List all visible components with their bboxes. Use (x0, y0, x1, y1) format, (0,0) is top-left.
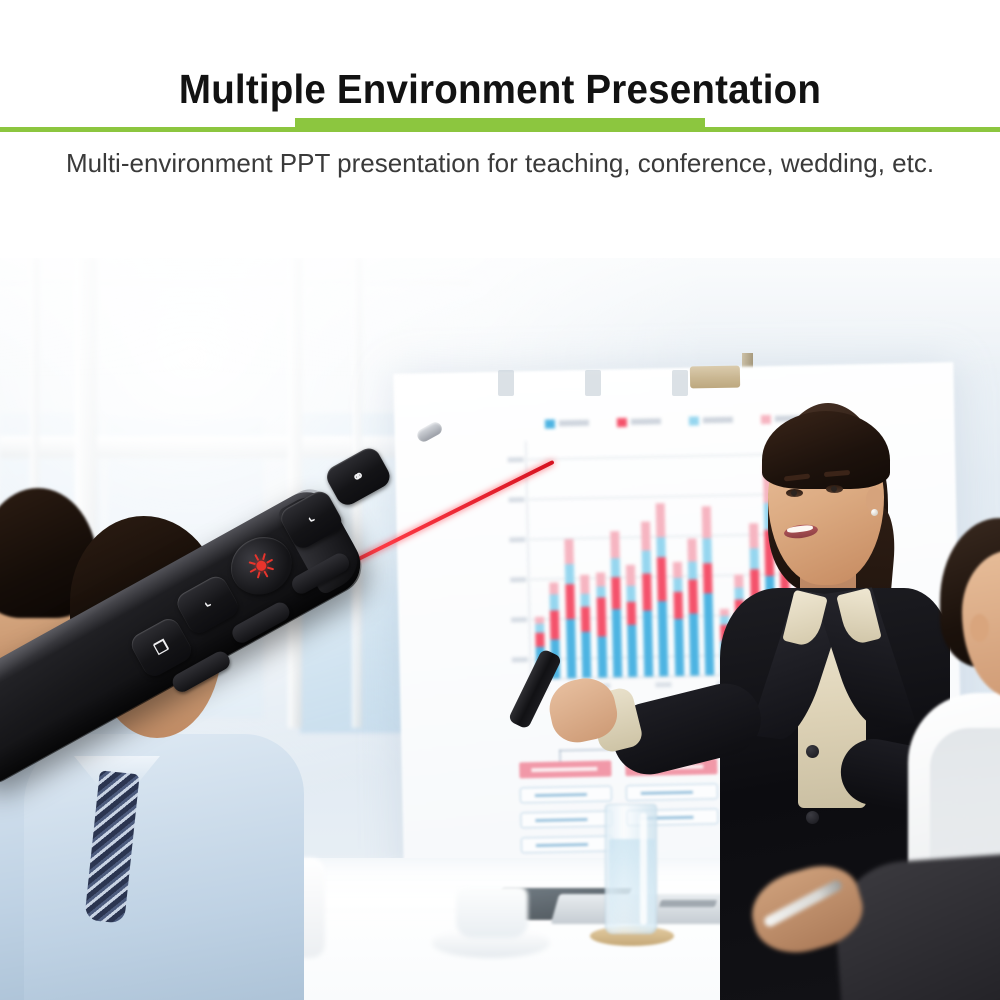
ear (970, 614, 989, 642)
chart-bar-segment (627, 601, 636, 624)
flipchart-tab (498, 370, 514, 396)
chart-bar-segment (641, 521, 651, 551)
divider-thick-block (295, 118, 705, 132)
chart-bar-segment (673, 591, 683, 619)
legend-label (631, 418, 661, 425)
next-arrow-icon: ‹ (302, 515, 318, 524)
chart-bar (656, 503, 669, 677)
chart-bar-segment (673, 578, 682, 592)
page-subtitle: Multi-environment PPT presentation for t… (0, 148, 1000, 179)
coffee-cup (456, 886, 528, 938)
chart-bar-segment (550, 594, 559, 610)
chart-bar-segment (674, 619, 684, 676)
flipchart-clip (690, 366, 740, 389)
chart-bar-segment (610, 531, 620, 559)
flipchart-tab (585, 370, 601, 396)
eye (826, 485, 843, 493)
blank-screen-icon: ❐ (152, 638, 171, 658)
earring (871, 509, 878, 516)
chart-bar-segment (565, 564, 574, 585)
chart-bar-segment (672, 562, 681, 578)
chart-bar-segment (626, 565, 635, 586)
chart-bar-segment (566, 619, 576, 679)
eye (786, 489, 803, 497)
chart-bar-segment (580, 575, 589, 593)
header-band: Multiple Environment Presentation Multi-… (0, 0, 1000, 258)
chart-bar (564, 539, 576, 678)
blazer-button (806, 811, 819, 824)
chart-y-tick (508, 457, 524, 462)
chart-x-tick (656, 682, 672, 687)
chart-bar-segment (550, 583, 559, 595)
chart-bar-segment (628, 624, 638, 677)
glass-water-level (609, 839, 655, 931)
chart-bar-segment (596, 586, 605, 598)
chart-bar-segment (581, 607, 591, 632)
chart-bar-segment (564, 539, 574, 564)
chart-bar (672, 562, 683, 676)
chart-bar-segment (642, 574, 652, 611)
chart-bar-segment (611, 558, 620, 576)
chart-bar-segment (597, 636, 607, 677)
page-title: Multiple Environment Presentation (30, 66, 970, 113)
flipchart-tab (672, 370, 688, 396)
blazer-button (806, 745, 819, 758)
prev-arrow-icon: ‹ (199, 600, 215, 609)
chart-bar-segment (581, 593, 590, 607)
chart-bar-segment (656, 503, 666, 537)
chart-bar-segment (535, 633, 544, 647)
chart-bar-segment (611, 577, 621, 609)
legend-swatch (545, 419, 555, 428)
chart-bar-segment (565, 584, 575, 618)
chart-bar-segment (657, 557, 667, 601)
legend-swatch (617, 418, 627, 427)
chart-bar (626, 565, 637, 677)
water-glass (605, 804, 657, 934)
chart-y-tick (509, 537, 525, 542)
laser-icon (244, 548, 279, 583)
chart-bar-segment (657, 537, 666, 558)
glass-highlight (640, 813, 647, 925)
chart-bar-segment (582, 632, 592, 678)
chart-y-tick (512, 657, 528, 662)
scene-photo: ❐ ‹ ‹ (0, 258, 1000, 1000)
accent-divider (0, 118, 1000, 134)
chart-bar (610, 531, 622, 677)
legend-label (559, 420, 589, 427)
chart-bar (641, 521, 653, 676)
hair-front (762, 411, 890, 489)
chart-bar-segment (596, 598, 606, 637)
chart-bar-segment (535, 624, 544, 633)
chart-bar (580, 575, 591, 678)
chart-bar-segment (535, 617, 544, 624)
chart-bar (596, 572, 607, 677)
chart-bar-segment (627, 586, 636, 602)
chart-y-tick (511, 617, 527, 622)
chart-bar-segment (643, 610, 653, 676)
org-column (519, 760, 613, 853)
page-root: Multiple Environment Presentation Multi-… (0, 0, 1000, 1000)
chart-bar-segment (596, 572, 605, 586)
chart-bar-segment (550, 610, 560, 640)
chart-y-tick (508, 497, 524, 502)
chart-y-tick (510, 577, 526, 582)
shirt (24, 734, 304, 1000)
chart-bar-segment (612, 609, 622, 678)
link-icon: ⚭ (349, 467, 367, 486)
chart-bar-segment (658, 601, 669, 676)
chart-bar-segment (641, 551, 650, 574)
